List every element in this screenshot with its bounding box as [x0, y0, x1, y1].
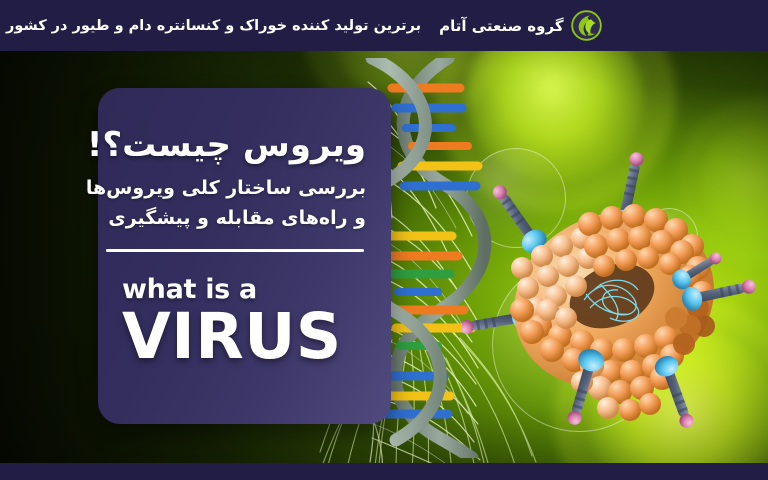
brand-logo[interactable]: گروه صنعتی آتام [439, 10, 601, 41]
footer-bar [0, 463, 768, 480]
poster-canvas: گروه صنعتی آتام برترین تولید کننده خوراک… [0, 0, 768, 480]
card-divider [106, 249, 364, 252]
phoenix-bird-logo-icon [571, 10, 602, 41]
header-bar: گروه صنعتی آتام برترین تولید کننده خوراک… [0, 0, 768, 51]
card-heading: ویروس چیست؟! [116, 126, 366, 165]
header-tagline: برترین تولید کننده خوراک و کنسانتره دام … [0, 18, 421, 34]
card-english-big: VIRUS [122, 305, 366, 369]
brand-name-label: گروه صنعتی آتام [439, 17, 563, 35]
card-english-block: what is a VIRUS [122, 276, 366, 369]
info-card: ویروس چیست؟! بررسی ساختار کلی ویروس‌ها و… [98, 88, 391, 424]
virus-capsid-icon [462, 150, 762, 450]
card-subtitle-line-2: و راه‌های مقابله و پیشگیری [116, 204, 366, 233]
card-english-small: what is a [122, 276, 366, 303]
card-subtitle-line-1: بررسی ساختار کلی ویروس‌ها [116, 174, 366, 203]
